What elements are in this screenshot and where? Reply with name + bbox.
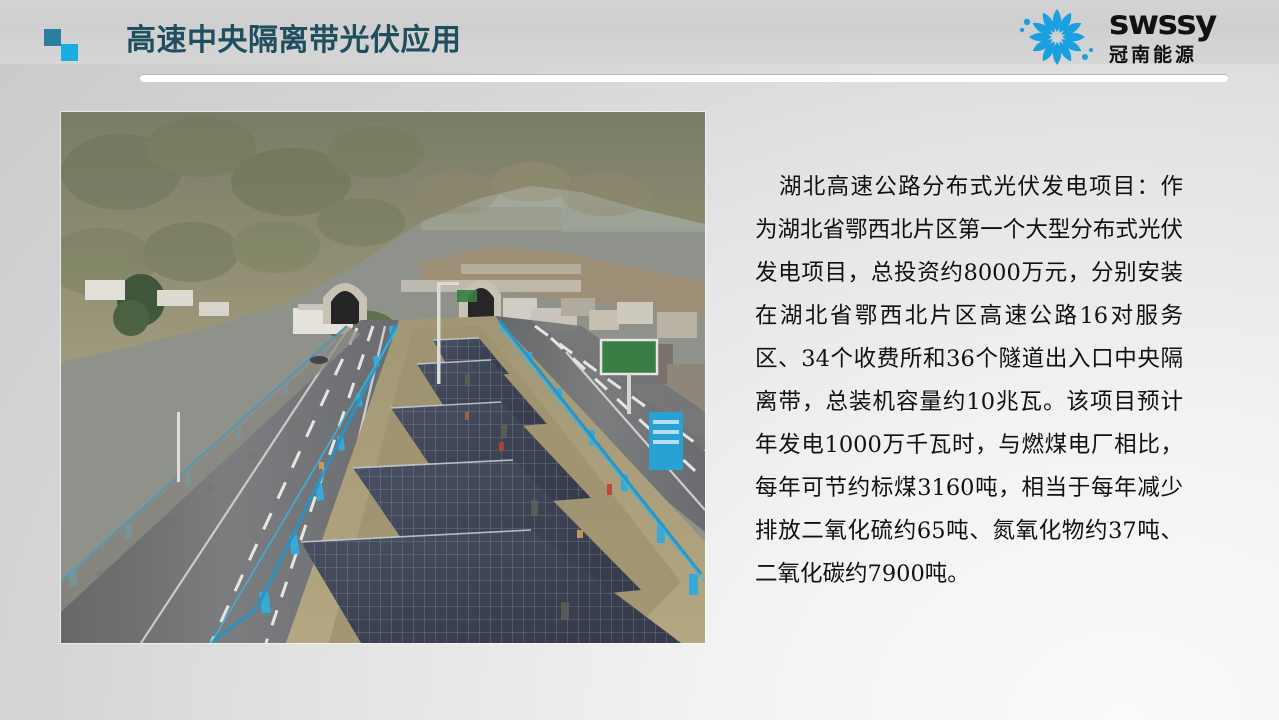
decorative-square-light	[61, 44, 78, 61]
decorative-squares	[44, 29, 90, 61]
project-photo	[61, 112, 705, 643]
company-logo: swssy 冠南能源	[1009, 4, 1267, 70]
logo-wordmark: swssy 冠南能源	[1109, 6, 1267, 68]
logo-subbrand-text: 冠南能源	[1109, 42, 1267, 68]
project-description-paragraph: 湖北高速公路分布式光伏发电项目：作为湖北省鄂西北片区第一个大型分布式光伏发电项目…	[755, 166, 1183, 596]
page-title: 高速中央隔离带光伏应用	[126, 22, 462, 60]
water-droplet-flower-logo-icon	[1009, 6, 1105, 68]
title-divider-rule	[140, 74, 1228, 82]
presentation-slide: 高速中央隔离带光伏应用	[0, 0, 1279, 720]
decorative-square-dark	[44, 29, 61, 46]
logo-brand-text: swssy	[1109, 6, 1267, 40]
